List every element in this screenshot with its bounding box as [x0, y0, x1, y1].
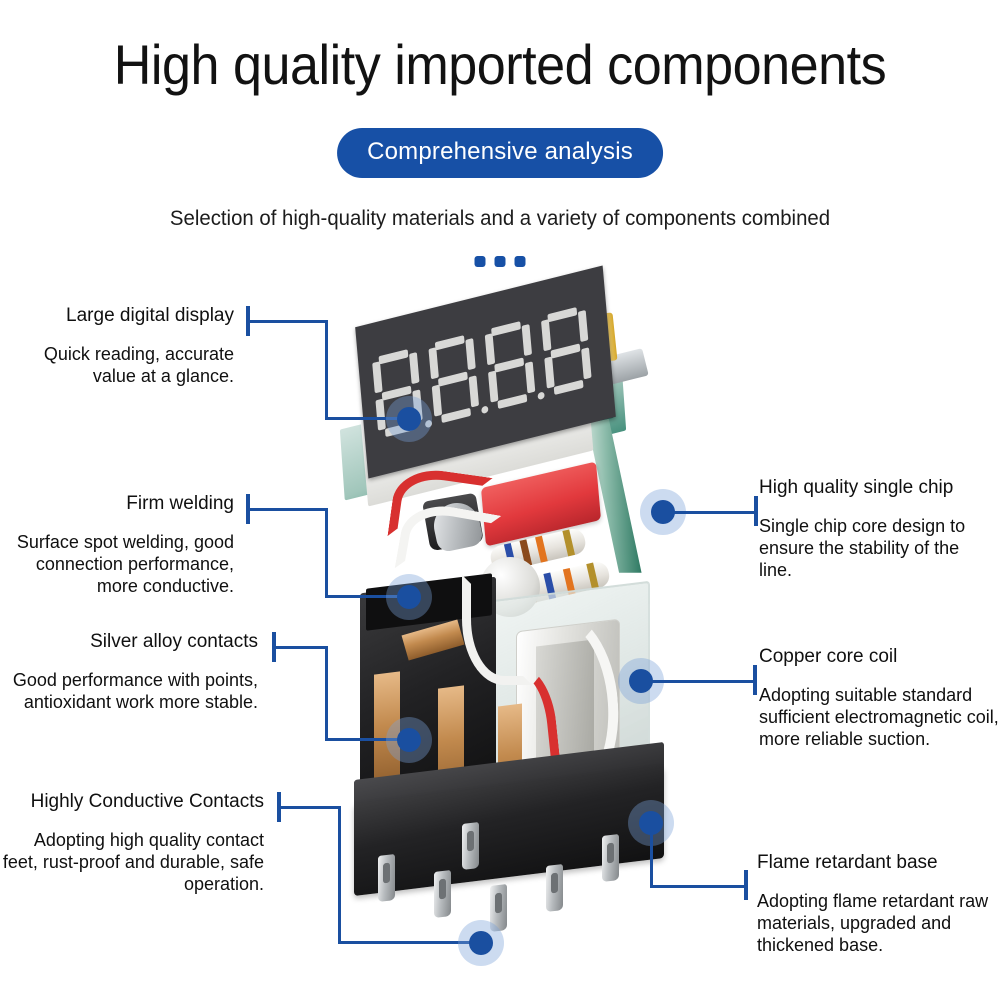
callout-body: Adopting suitable standard sufficient el… — [759, 685, 999, 751]
dot-core — [397, 728, 421, 752]
callout-heading: Highly Conductive Contacts — [0, 792, 264, 813]
contact-pin-1 — [378, 854, 395, 902]
callout-line-silver-a — [272, 646, 328, 649]
callout-copper-core-coil: Copper core coil Adopting suitable stand… — [759, 647, 999, 751]
contact-pin-4 — [546, 864, 563, 912]
callout-body: Adopting high quality contact feet, rust… — [0, 830, 264, 896]
callout-line-silver-b — [325, 646, 328, 741]
callout-firm-welding: Firm welding Surface spot welding, good … — [0, 494, 234, 598]
callout-body: Surface spot welding, good connection pe… — [0, 532, 234, 598]
dot-3 — [515, 256, 526, 267]
contact-pin-6 — [462, 822, 479, 870]
section-badge: Comprehensive analysis — [337, 128, 663, 178]
contact-pin-2 — [434, 870, 451, 918]
callout-line-display-a — [246, 320, 328, 323]
callout-tick-base — [744, 870, 748, 900]
callout-large-digital-display: Large digital display Quick reading, acc… — [0, 306, 234, 388]
callout-silver-alloy-contacts: Silver alloy contacts Good performance w… — [0, 632, 258, 714]
led-digit-2 — [428, 333, 480, 425]
infographic-page: High quality imported components Compreh… — [0, 0, 1000, 1000]
callout-line-display-b — [325, 320, 328, 420]
callout-tick-chip — [754, 496, 758, 526]
page-subtitle: Selection of high-quality materials and … — [15, 207, 985, 231]
callout-dot-conductive[interactable] — [458, 920, 504, 966]
callout-line-base-a — [650, 822, 653, 888]
callout-tick-coil — [753, 665, 757, 695]
callout-heading: Flame retardant base — [757, 853, 997, 874]
decorative-dots — [475, 256, 526, 267]
callout-heading: Silver alloy contacts — [0, 632, 258, 653]
contact-pin-5 — [602, 834, 619, 882]
callout-body: Single chip core design to ensure the st… — [759, 516, 995, 582]
led-digit-3 — [484, 319, 536, 411]
callout-line-conductive-a — [277, 806, 341, 809]
dot-1 — [475, 256, 486, 267]
callout-high-quality-single-chip: High quality single chip Single chip cor… — [759, 478, 995, 582]
callout-highly-conductive-contacts: Highly Conductive Contacts Adopting high… — [0, 792, 264, 896]
dot-core — [469, 931, 493, 955]
callout-line-base-b — [650, 885, 747, 888]
dot-2 — [495, 256, 506, 267]
callout-line-welding-b — [325, 508, 328, 598]
product-image — [330, 275, 750, 975]
led-digit-4 — [541, 305, 593, 397]
callout-dot-silver[interactable] — [386, 717, 432, 763]
callout-heading: Firm welding — [0, 494, 234, 515]
callout-heading: High quality single chip — [759, 478, 995, 499]
callout-flame-retardant-base: Flame retardant base Adopting flame reta… — [757, 853, 997, 957]
dot-core — [397, 407, 421, 431]
dot-core — [397, 585, 421, 609]
callout-dot-display[interactable] — [386, 396, 432, 442]
callout-body: Adopting flame retardant raw materials, … — [757, 891, 997, 957]
callout-body: Good performance with points, antioxidan… — [0, 670, 258, 714]
callout-line-chip — [672, 511, 757, 514]
callout-body: Quick reading, accurate value at a glanc… — [0, 344, 234, 388]
callout-heading: Large digital display — [0, 306, 234, 327]
callout-line-coil — [650, 680, 756, 683]
callout-line-welding-a — [246, 508, 328, 511]
callout-dot-welding[interactable] — [386, 574, 432, 620]
callout-line-conductive-b — [338, 806, 341, 944]
callout-heading: Copper core coil — [759, 647, 999, 668]
page-title: High quality imported components — [35, 32, 965, 97]
